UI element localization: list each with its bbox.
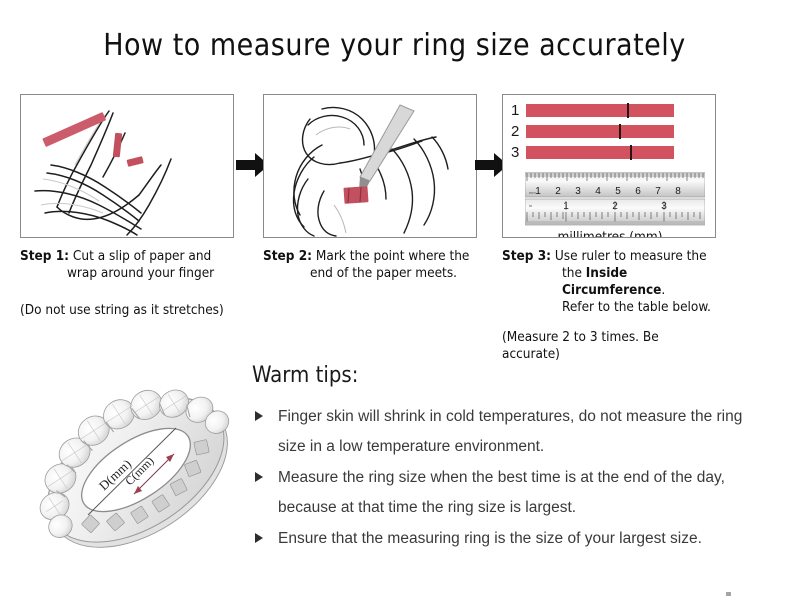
step-2-panel: [263, 94, 477, 238]
step-3-caption: Step 3: Use ruler to measure the the Ins…: [502, 248, 718, 316]
step-1-text-line1: Cut a slip of paper and: [73, 248, 211, 264]
triangle-right-bullet-icon: [255, 533, 263, 543]
strip-bar: [526, 125, 674, 138]
strip-row: 2: [511, 123, 674, 140]
step-1-text-line2: wrap around your finger: [20, 265, 236, 282]
strip-mark-line: [630, 145, 632, 160]
step-1-column: Step 1: Cut a slip of paper and wrap aro…: [20, 94, 236, 319]
ruler-illustration: mm 1 2 3 4 5 6 7 8 in 1: [525, 172, 705, 226]
svg-text:in: in: [529, 203, 532, 208]
svg-text:7: 7: [655, 186, 661, 197]
hand-with-paper-slip-illustration: [21, 95, 233, 237]
page-title: How to measure your ring size accurately: [0, 28, 789, 63]
step-1-label: Step 1:: [20, 248, 69, 264]
strip-number: 2: [511, 124, 526, 139]
warm-tips-heading: Warm tips:: [252, 363, 772, 389]
corner-artifact: [726, 592, 731, 596]
step-2-text-line1: Mark the point where the: [316, 248, 470, 264]
svg-text:6: 6: [635, 186, 641, 197]
step-3-note: (Measure 2 to 3 times. Be accurate): [502, 329, 718, 363]
svg-text:1: 1: [535, 186, 541, 197]
steps-row: Step 1: Cut a slip of paper and wrap aro…: [0, 94, 789, 334]
step-2-column: Step 2: Mark the point where the end of …: [263, 94, 479, 282]
triangle-right-bullet-icon: [255, 472, 263, 482]
step-3-label: Step 3:: [502, 248, 551, 264]
tip-list-item: Measure the ring size when the best time…: [252, 463, 772, 523]
hand-marking-paper-with-pen-illustration: [264, 95, 476, 237]
tip-list-item: Finger skin will shrink in cold temperat…: [252, 402, 772, 462]
step-3-column: 1 2 3: [502, 94, 718, 363]
eternity-ring-diagram: D(mm) C(mm): [26, 358, 246, 583]
svg-text:4: 4: [595, 186, 601, 197]
strip-number: 1: [511, 103, 526, 118]
tip-text: Ensure that the measuring ring is the si…: [278, 530, 702, 547]
tip-text: Measure the ring size when the best time…: [278, 469, 725, 516]
svg-text:5: 5: [615, 186, 621, 197]
step-3-panel: 1 2 3: [502, 94, 716, 238]
measured-paper-strips: 1 2 3: [511, 102, 674, 165]
strip-bar: [526, 104, 674, 117]
tip-list-item: Ensure that the measuring ring is the si…: [252, 524, 772, 554]
step-3-text-line2: the Inside Circumference.: [502, 265, 718, 299]
strip-bar: [526, 146, 674, 159]
warm-tips-section: Warm tips: Finger skin will shrink in co…: [252, 363, 772, 555]
strip-mark-line: [627, 103, 629, 118]
strip-row: 3: [511, 144, 674, 161]
step-1-caption: Step 1: Cut a slip of paper and wrap aro…: [20, 248, 236, 282]
ruler-unit-caption: millimetres (mm): [503, 229, 716, 238]
step-1-panel: [20, 94, 234, 238]
step-3-text-line3: Refer to the table below.: [502, 299, 718, 316]
strip-number: 3: [511, 145, 526, 160]
svg-text:2: 2: [555, 186, 561, 197]
svg-text:3: 3: [575, 186, 581, 197]
strip-mark-line: [619, 124, 621, 139]
step-1-note: (Do not use string as it stretches): [20, 302, 236, 319]
tip-text: Finger skin will shrink in cold temperat…: [278, 408, 742, 455]
strip-row: 1: [511, 102, 674, 119]
step-2-text-line2: end of the paper meets.: [263, 265, 479, 282]
step-2-caption: Step 2: Mark the point where the end of …: [263, 248, 479, 282]
step-3-line2-pre: the: [562, 265, 586, 281]
step-3-line2-post: .: [661, 282, 665, 298]
step-3-text-line1: Use ruler to measure the: [555, 248, 707, 264]
step-2-label: Step 2:: [263, 248, 312, 264]
triangle-right-bullet-icon: [255, 411, 263, 421]
svg-text:8: 8: [675, 186, 681, 197]
